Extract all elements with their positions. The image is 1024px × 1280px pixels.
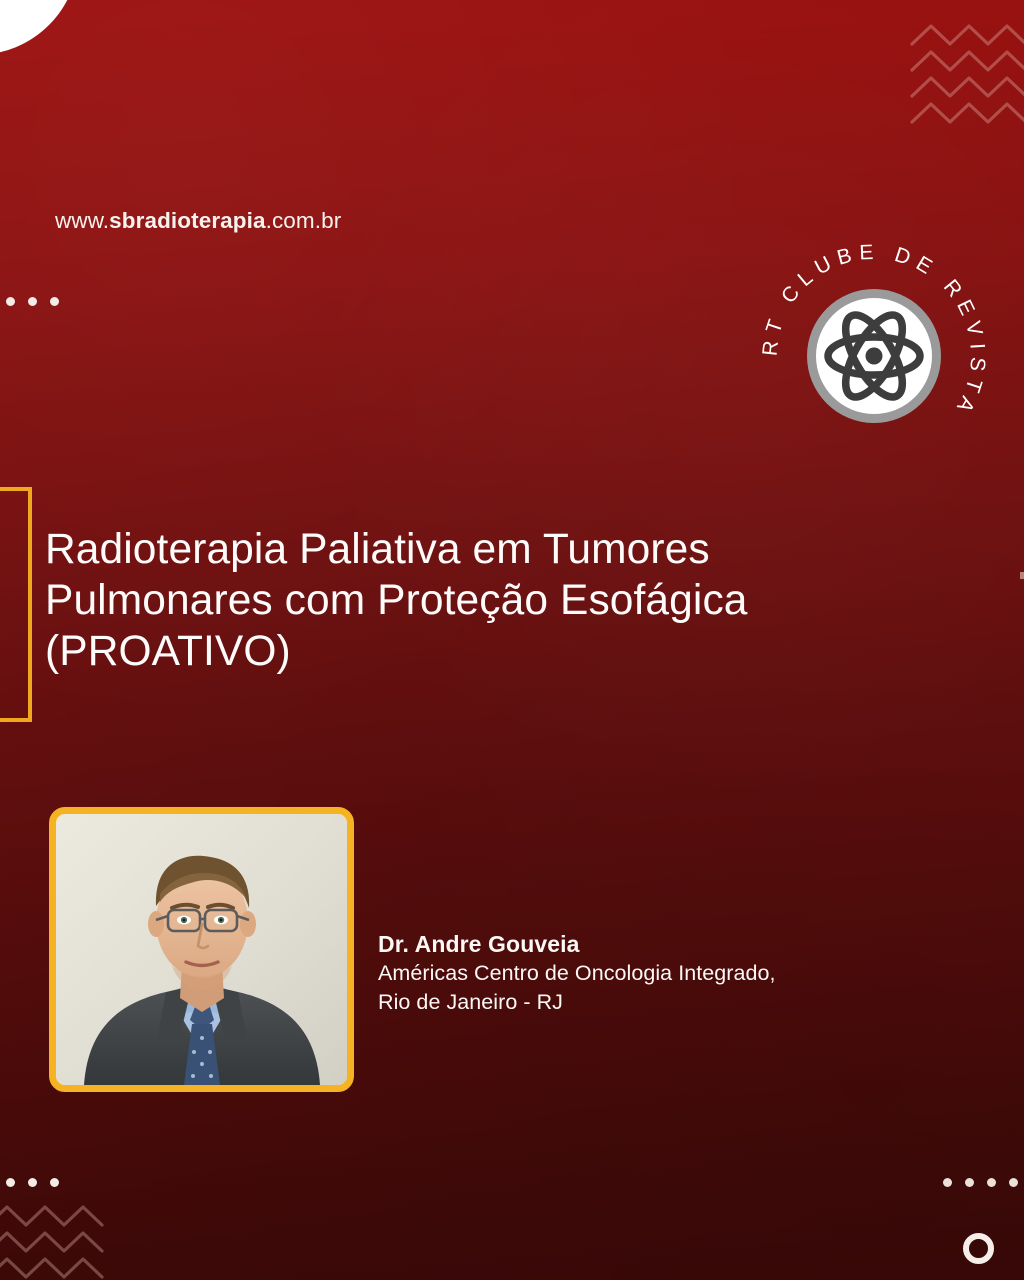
- speaker-affiliation-line1: Américas Centro de Oncologia Integrado,: [378, 959, 978, 988]
- dot: [50, 297, 59, 306]
- speaker-affiliation-line2: Rio de Janeiro - RJ: [378, 988, 978, 1017]
- dot: [965, 1178, 974, 1187]
- url-prefix: www.: [55, 208, 109, 233]
- dots-left-bottom: [6, 1178, 59, 1187]
- zigzag-top-right-icon: [884, 22, 1024, 134]
- edge-marker-decoration: [1020, 572, 1024, 579]
- dot: [987, 1178, 996, 1187]
- website-url[interactable]: www.sbradioterapia.com.br: [55, 208, 341, 234]
- speaker-name: Dr. Andre Gouveia: [378, 929, 978, 959]
- dot: [50, 1178, 59, 1187]
- dot: [1009, 1178, 1018, 1187]
- dots-left-middle: [6, 297, 59, 306]
- speaker-info: Dr. Andre Gouveia Américas Centro de Onc…: [378, 929, 978, 1017]
- dot: [6, 297, 15, 306]
- poster-canvas: www.sbradioterapia.com.br SBRT CLUBE DE …: [0, 0, 1024, 1280]
- page-title: Radioterapia Paliativa em Tumores Pulmon…: [45, 524, 835, 677]
- url-suffix: .com.br: [266, 208, 342, 233]
- dots-right-bottom: [943, 1178, 1018, 1187]
- avatar: [56, 814, 347, 1085]
- dot: [28, 297, 37, 306]
- zigzag-bottom-left-icon: [0, 1205, 150, 1280]
- speaker-photo-frame: [49, 807, 354, 1092]
- dot: [943, 1178, 952, 1187]
- corner-circle-decoration: [0, 0, 79, 55]
- ring-outline-decoration: [963, 1233, 994, 1264]
- speaker-portrait-illustration: [56, 814, 347, 1085]
- dot: [6, 1178, 15, 1187]
- sbrt-clube-de-revista-badge: SBRT CLUBE DE REVISTA: [748, 230, 1000, 482]
- dot: [28, 1178, 37, 1187]
- gold-accent-frame: [0, 487, 32, 722]
- url-brand: sbradioterapia: [109, 208, 265, 233]
- badge-svg: SBRT CLUBE DE REVISTA: [748, 230, 1000, 482]
